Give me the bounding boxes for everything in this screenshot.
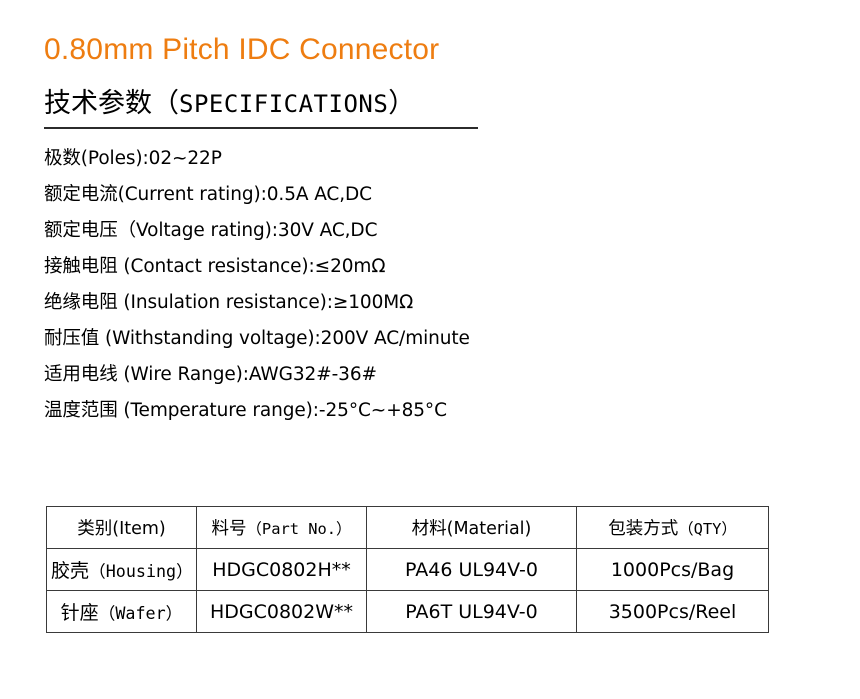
specifications-heading: 技术参数（SPECIFICATIONS） <box>44 88 415 119</box>
table-header-qty: 包装方式（QTY） <box>577 507 769 549</box>
specifications-heading-close-paren: ） <box>388 88 415 119</box>
table-cell-item-wafer-en: （Wafer） <box>99 603 183 623</box>
table-cell-part-no-wafer: HDGC0802W** <box>197 591 367 633</box>
specifications-heading-en: SPECIFICATIONS <box>179 90 388 118</box>
table-header-material-cn: 材料 <box>412 519 447 539</box>
spec-line-wire-range: 适用电线 (Wire Range):AWG32#-36# <box>44 357 744 393</box>
table-header-qty-cn: 包装方式 <box>608 519 678 539</box>
specifications-list: 极数(Poles):02~22P 额定电流(Current rating):0.… <box>44 141 744 429</box>
table-cell-item-housing-cn: 胶壳 <box>51 560 89 582</box>
table-header-item-cn: 类别 <box>77 519 112 539</box>
table-row: 胶壳（Housing） HDGC0802H** PA46 UL94V-0 100… <box>47 549 769 591</box>
table-cell-qty-housing: 1000Pcs/Bag <box>577 549 769 591</box>
table-header-item-en: (Item) <box>112 519 166 539</box>
table-header-material-en: (Material) <box>447 519 532 539</box>
table-header-qty-en: （QTY） <box>678 520 737 538</box>
page-title: 0.80mm Pitch IDC Connector <box>44 33 439 66</box>
table-header-material: 材料(Material) <box>367 507 577 549</box>
spec-line-contact-resistance: 接触电阻 (Contact resistance):≤20mΩ <box>44 249 744 285</box>
table-cell-item-wafer: 针座（Wafer） <box>47 591 197 633</box>
specifications-heading-open-paren: （ <box>152 88 179 119</box>
table-header-item: 类别(Item) <box>47 507 197 549</box>
spec-line-poles: 极数(Poles):02~22P <box>44 141 744 177</box>
table-header-part-no-cn: 料号 <box>212 519 247 539</box>
table-cell-item-wafer-cn: 针座 <box>61 602 99 624</box>
materials-table: 类别(Item) 料号（Part No.） 材料(Material) 包装方式（… <box>46 506 769 633</box>
table-header-part-no-en: （Part No.） <box>247 520 352 538</box>
table-row: 针座（Wafer） HDGC0802W** PA6T UL94V-0 3500P… <box>47 591 769 633</box>
table-cell-material-housing: PA46 UL94V-0 <box>367 549 577 591</box>
table-cell-qty-wafer: 3500Pcs/Reel <box>577 591 769 633</box>
heading-underline-divider <box>44 127 478 129</box>
datasheet-page: 0.80mm Pitch IDC Connector 技术参数（SPECIFIC… <box>0 0 860 699</box>
table-cell-item-housing-en: （Housing） <box>89 561 193 581</box>
specifications-heading-cn: 技术参数 <box>44 88 152 119</box>
table-cell-item-housing: 胶壳（Housing） <box>47 549 197 591</box>
table-header-row: 类别(Item) 料号（Part No.） 材料(Material) 包装方式（… <box>47 507 769 549</box>
spec-line-insulation-resistance: 绝缘电阻 (Insulation resistance):≥100MΩ <box>44 285 744 321</box>
table-cell-material-wafer: PA6T UL94V-0 <box>367 591 577 633</box>
table-cell-part-no-housing: HDGC0802H** <box>197 549 367 591</box>
spec-line-withstanding-voltage: 耐压值 (Withstanding voltage):200V AC/minut… <box>44 321 744 357</box>
table-header-part-no: 料号（Part No.） <box>197 507 367 549</box>
spec-line-voltage-rating: 额定电压（Voltage rating):30V AC,DC <box>44 213 744 249</box>
spec-line-temperature-range: 温度范围 (Temperature range):-25°C~+85°C <box>44 393 744 429</box>
spec-line-current-rating: 额定电流(Current rating):0.5A AC,DC <box>44 177 744 213</box>
